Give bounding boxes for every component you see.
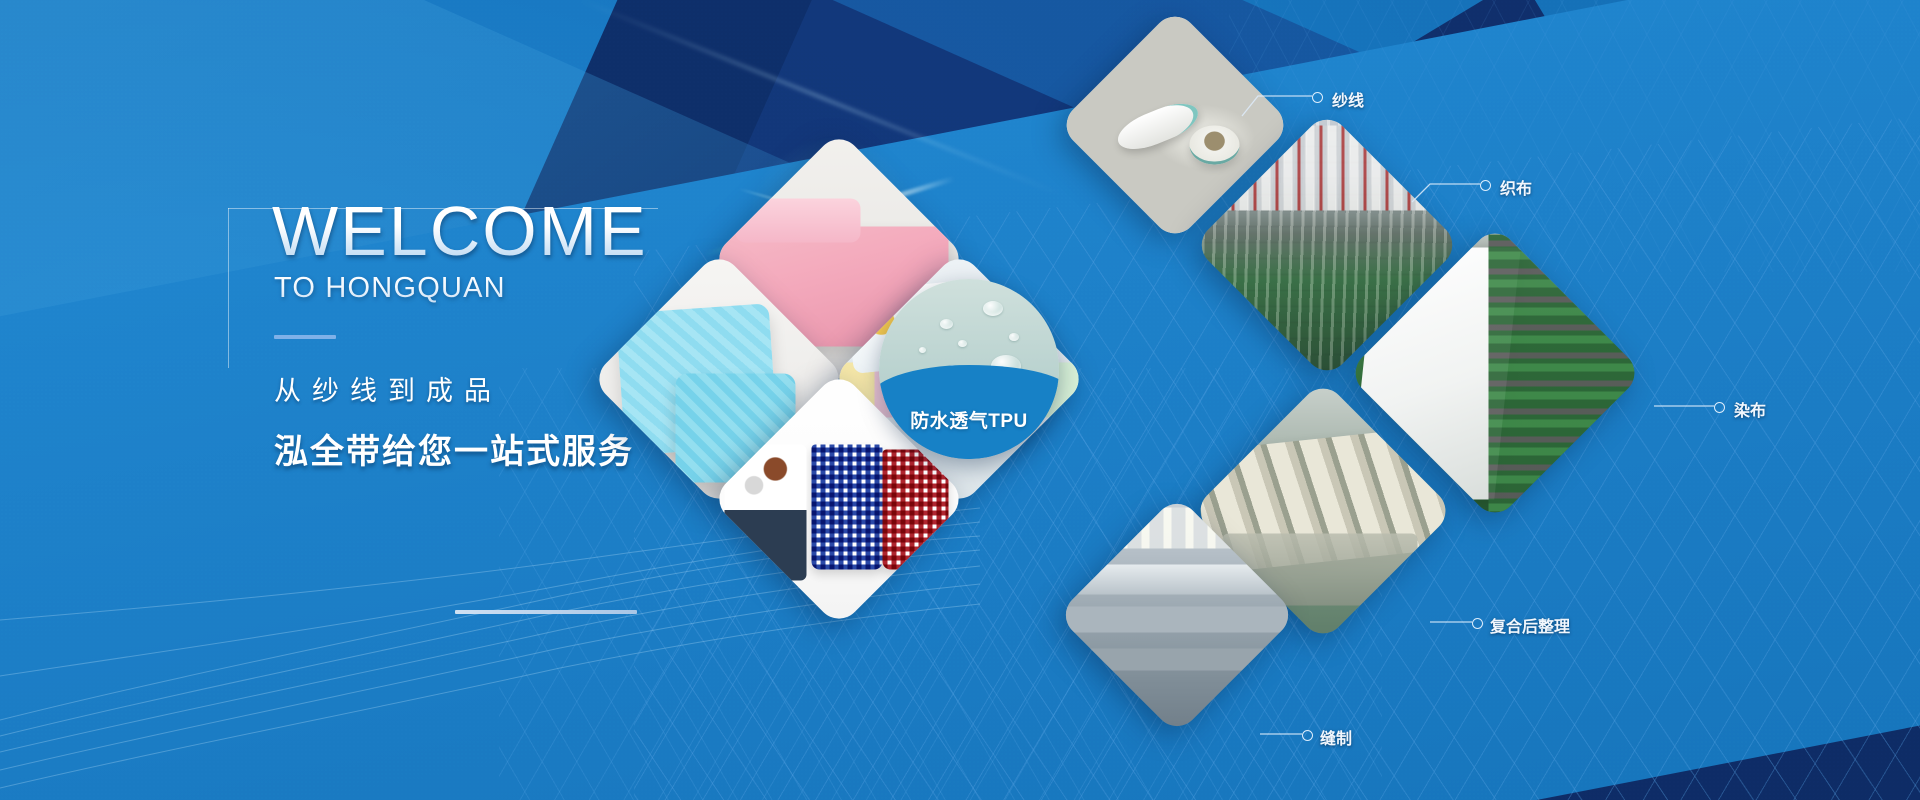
badge-label: 防水透气TPU — [879, 406, 1059, 433]
hero-banner: WELCOME TO HONGQUAN 从纱线到成品 泓全带给您一站式服务 — [0, 0, 1920, 800]
accent-rule — [274, 335, 336, 339]
callout-dot-sewing — [1302, 730, 1313, 741]
center-badge-tpu[interactable]: 防水透气TPU — [879, 279, 1059, 459]
callout-label-lamination: 复合后整理 — [1490, 613, 1570, 637]
callout-dot-weaving — [1480, 180, 1491, 191]
callout-label-sewing: 缝制 — [1320, 725, 1352, 749]
callout-label-weaving: 织布 — [1500, 175, 1532, 199]
callout-dot-dyeing — [1714, 402, 1725, 413]
callout-dot-yarn — [1312, 92, 1323, 103]
bottom-rule — [455, 610, 637, 614]
callout-dot-lamination — [1472, 618, 1483, 629]
callout-label-yarn: 纱线 — [1332, 87, 1364, 111]
headline-welcome: WELCOME — [228, 196, 748, 266]
callout-label-dyeing: 染布 — [1734, 397, 1766, 421]
